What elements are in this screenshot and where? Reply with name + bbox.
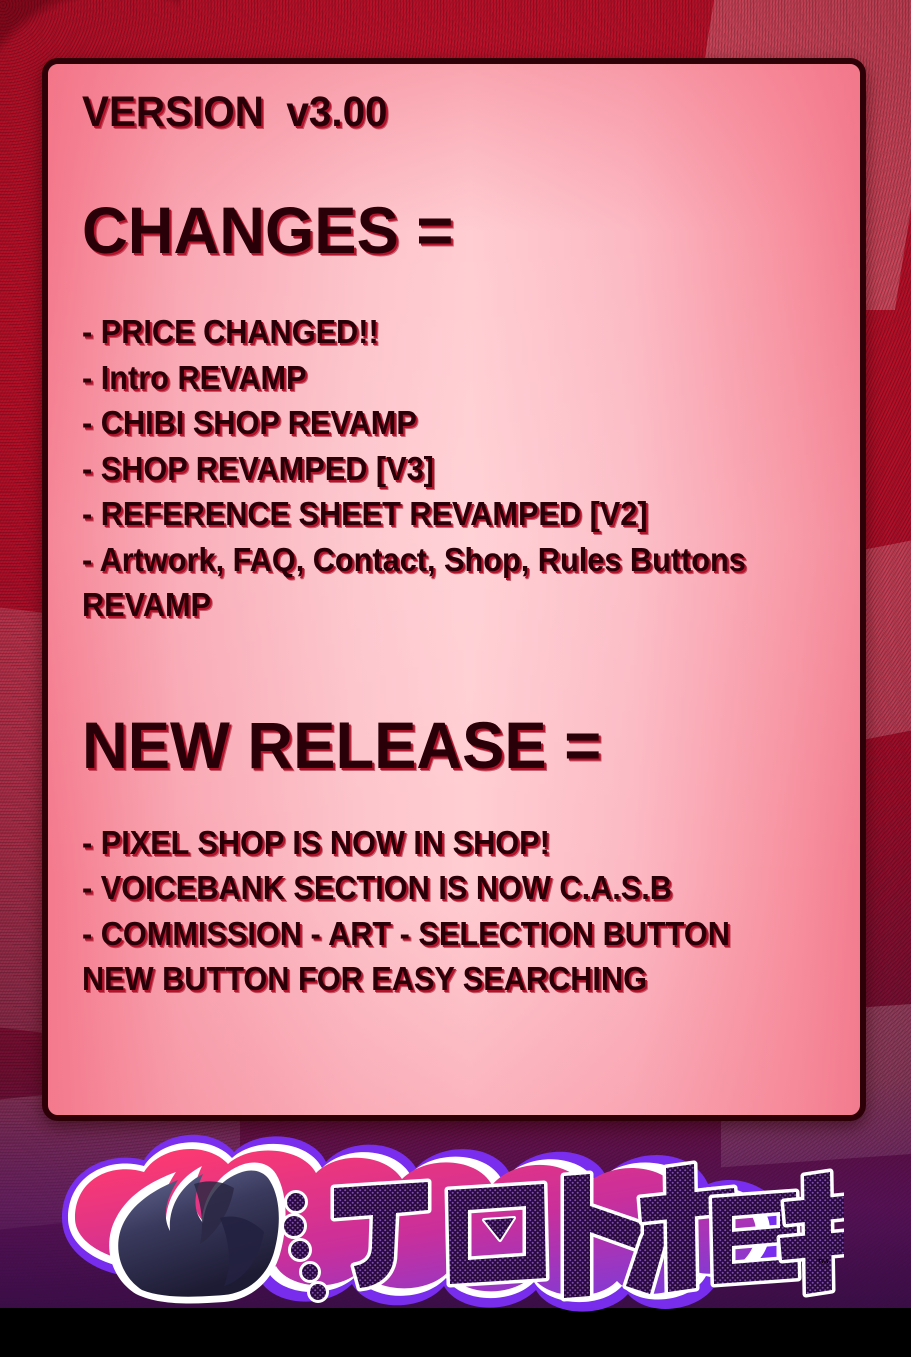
list-item: - PIXEL SHOP IS NOW IN SHOP! [82, 820, 774, 866]
changelog-card: VERSION v3.00 CHANGES = - PRICE CHANGED!… [42, 58, 866, 1121]
list-item: - VOICEBANK SECTION IS NOW C.A.S.B [82, 865, 774, 911]
version-title: VERSION v3.00 [82, 90, 781, 135]
brand-logo[interactable]: ™ [44, 1114, 844, 1329]
list-item: - CHIBI SHOP REVAMP [82, 400, 774, 446]
list-item: - SHOP REVAMPED [V3] [82, 446, 774, 492]
card-content: VERSION v3.00 CHANGES = - PRICE CHANGED!… [48, 64, 860, 1002]
poster-canvas: VERSION v3.00 CHANGES = - PRICE CHANGED!… [0, 0, 911, 1357]
section-heading-changes: CHANGES = [82, 197, 796, 263]
new-release-list: - PIXEL SHOP IS NOW IN SHOP! - VOICEBANK… [82, 820, 826, 1002]
changes-list: - PRICE CHANGED!! - Intro REVAMP - CHIBI… [82, 309, 826, 628]
trademark-symbol: ™ [817, 1256, 831, 1271]
list-item: - Artwork, FAQ, Contact, Shop, Rules But… [82, 537, 774, 628]
section-spacer [82, 628, 826, 712]
list-item: - REFERENCE SHEET REVAMPED [V2] [82, 491, 774, 537]
list-item: - COMMISSION - ART - SELECTION BUTTON NE… [82, 911, 774, 1002]
list-item: - Intro REVAMP [82, 355, 774, 401]
list-item: - PRICE CHANGED!! [82, 309, 774, 355]
section-heading-new-release: NEW RELEASE = [82, 712, 796, 778]
